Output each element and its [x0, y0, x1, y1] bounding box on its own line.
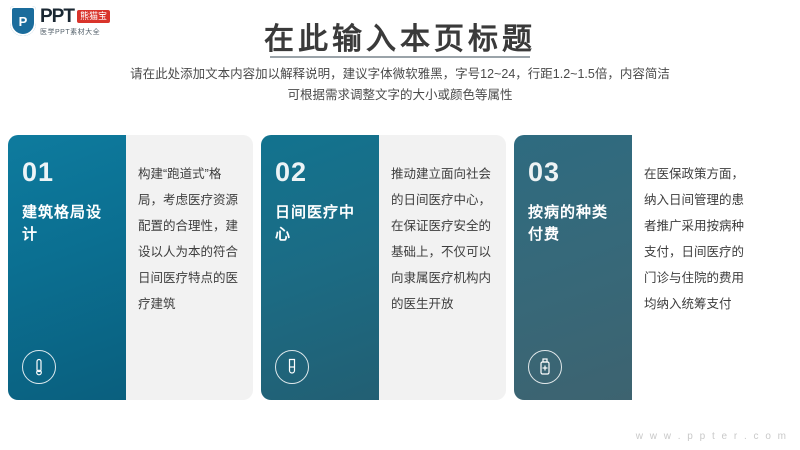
subtitle-line-2: 可根据需求调整文字的大小或颜色等属性 [0, 85, 800, 106]
card-item[interactable]: 03 按病的种类付费 在医保政策方面，纳入日间管理的患者推广采用按病种支付，日间… [514, 135, 759, 400]
card-description: 推动建立面向社会的日间医疗中心，在保证医疗安全的基础上，不仅可以向隶属医疗机构内… [379, 135, 506, 400]
test-tube-icon [275, 350, 309, 384]
footer-watermark: w w w . p p t e r . c o m [636, 431, 788, 442]
page-subtitle: 请在此处添加文本内容加以解释说明，建议字体微软雅黑，字号12~24，行距1.2~… [0, 64, 800, 106]
card-title: 日间医疗中心 [275, 202, 365, 246]
thermometer-icon [22, 350, 56, 384]
card-tile[interactable]: 03 按病的种类付费 [514, 135, 632, 400]
card-number: 01 [22, 157, 112, 188]
card-tile[interactable]: 01 建筑格局设计 [8, 135, 126, 400]
card-title: 建筑格局设计 [22, 202, 112, 246]
page-title: 在此输入本页标题 [0, 14, 800, 58]
card-item[interactable]: 01 建筑格局设计 构建“跑道式”格局，考虑医疗资源配置的合理性，建设以人为本的… [8, 135, 253, 400]
card-item[interactable]: 02 日间医疗中心 推动建立面向社会的日间医疗中心，在保证医疗安全的基础上，不仅… [261, 135, 506, 400]
card-title: 按病的种类付费 [528, 202, 618, 246]
card-number: 03 [528, 157, 618, 188]
card-description: 在医保政策方面，纳入日间管理的患者推广采用按病种支付，日间医疗的门诊与住院的费用… [632, 135, 759, 400]
card-number: 02 [275, 157, 365, 188]
title-divider [270, 56, 530, 58]
medicine-bottle-icon [528, 350, 562, 384]
card-tile[interactable]: 02 日间医疗中心 [261, 135, 379, 400]
card-description: 构建“跑道式”格局，考虑医疗资源配置的合理性，建设以人为本的符合日间医疗特点的医… [126, 135, 253, 400]
subtitle-line-1: 请在此处添加文本内容加以解释说明，建议字体微软雅黑，字号12~24，行距1.2~… [0, 64, 800, 85]
card-list: 01 建筑格局设计 构建“跑道式”格局，考虑医疗资源配置的合理性，建设以人为本的… [8, 135, 767, 400]
